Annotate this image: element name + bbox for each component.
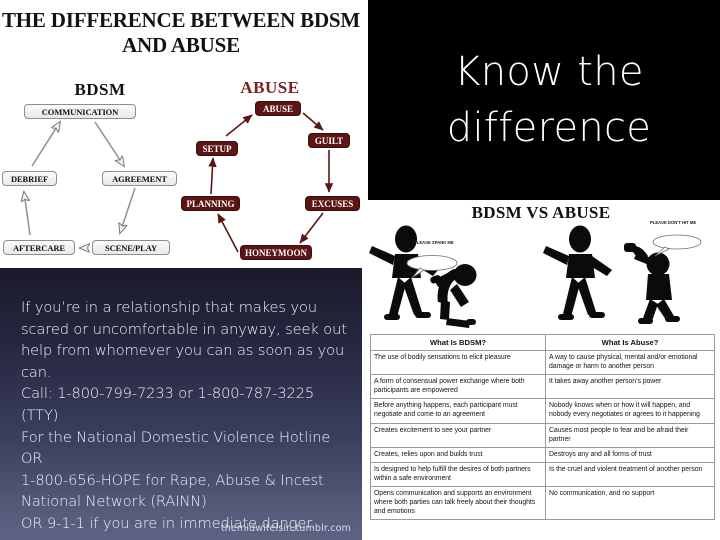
slide-canvas: THE DIFFERENCE BETWEEN BDSM AND ABUSE <box>0 0 720 540</box>
table-row: Is designed to help fulfill the desires … <box>371 462 715 486</box>
cell-bdsm: The use of bodily sensations to elicit p… <box>371 351 546 375</box>
comparison-table: What Is BDSM? What Is Abuse? The use of … <box>370 334 715 520</box>
bdsm-node-agreement: AGREEMENT <box>102 171 177 186</box>
cell-bdsm: A form of consensual power exchange wher… <box>371 375 546 399</box>
cell-bdsm: Creates excitement to see your partner <box>371 423 546 447</box>
table-header-row: What Is BDSM? What Is Abuse? <box>371 335 715 351</box>
bdsm-node-aftercare: AFTERCARE <box>3 240 75 255</box>
know-the-difference-title-panel: Know the difference <box>368 0 720 200</box>
table-row: Opens communication and supports an envi… <box>371 487 715 520</box>
stick-figures-graphic <box>362 222 720 334</box>
cell-bdsm: Before anything happens, each participan… <box>371 399 546 423</box>
table-row: Creates excitement to see your partner C… <box>371 423 715 447</box>
cell-abuse: Destroys any and all forms of trust <box>546 447 715 462</box>
cell-abuse: A way to cause physical, mental and/or e… <box>546 351 715 375</box>
table-row: The use of bodily sensations to elicit p… <box>371 351 715 375</box>
cell-bdsm: Opens communication and supports an envi… <box>371 487 546 520</box>
speech-bubble-please-spank-me: PLEASE SPANK ME <box>414 240 454 245</box>
cell-bdsm: Is designed to help fulfill the desires … <box>371 462 546 486</box>
table-row: A form of consensual power exchange wher… <box>371 375 715 399</box>
cell-abuse: No communication, and no support <box>546 487 715 520</box>
abuse-cycle-heading: ABUSE <box>210 78 330 98</box>
bdsm-vs-abuse-cycles-infographic: THE DIFFERENCE BETWEEN BDSM AND ABUSE <box>0 0 362 268</box>
column-header-abuse: What Is Abuse? <box>546 335 715 351</box>
table-row: Creates, relies upon and builds trust De… <box>371 447 715 462</box>
abuse-node-guilt: GUILT <box>308 133 350 148</box>
abuse-node-excuses: EXCUSES <box>305 196 360 211</box>
bdsm-node-communication: COMMUNICATION <box>24 104 136 119</box>
bdsm-node-debrief: DEBRIEF <box>2 171 57 186</box>
abuse-node-honeymoon: HONEYMOON <box>240 245 312 260</box>
cell-abuse: It takes away another person’s power <box>546 375 715 399</box>
table-row: Before anything happens, each participan… <box>371 399 715 423</box>
cell-abuse: Nobody knows when or how it will happen,… <box>546 399 715 423</box>
abuse-node-abuse: ABUSE <box>255 101 301 116</box>
bdsm-cycle-heading: BDSM <box>40 80 160 100</box>
abuse-node-planning: PLANNING <box>181 196 240 211</box>
column-header-bdsm: What Is BDSM? <box>371 335 546 351</box>
help-resources-panel: If you’re in a relationship that makes y… <box>0 268 362 540</box>
cell-abuse: Causes most people to fear and be afraid… <box>546 423 715 447</box>
help-resources-text: If you’re in a relationship that makes y… <box>21 297 351 535</box>
slide-headline: Know the difference <box>394 44 694 156</box>
source-watermark: themidwifeisin.tumblr.com <box>221 523 351 534</box>
bdsm-node-scene-play: SCENE/PLAY <box>92 240 170 255</box>
speech-bubble-please-dont-hit-me: PLEASE DON'T HIT ME <box>650 220 696 225</box>
cell-abuse: Is the cruel and violent treatment of an… <box>546 462 715 486</box>
bdsm-vs-abuse-comparison-panel: BDSM VS ABUSE <box>362 200 720 540</box>
cell-bdsm: Creates, relies upon and builds trust <box>371 447 546 462</box>
abuse-node-setup: SETUP <box>196 141 238 156</box>
